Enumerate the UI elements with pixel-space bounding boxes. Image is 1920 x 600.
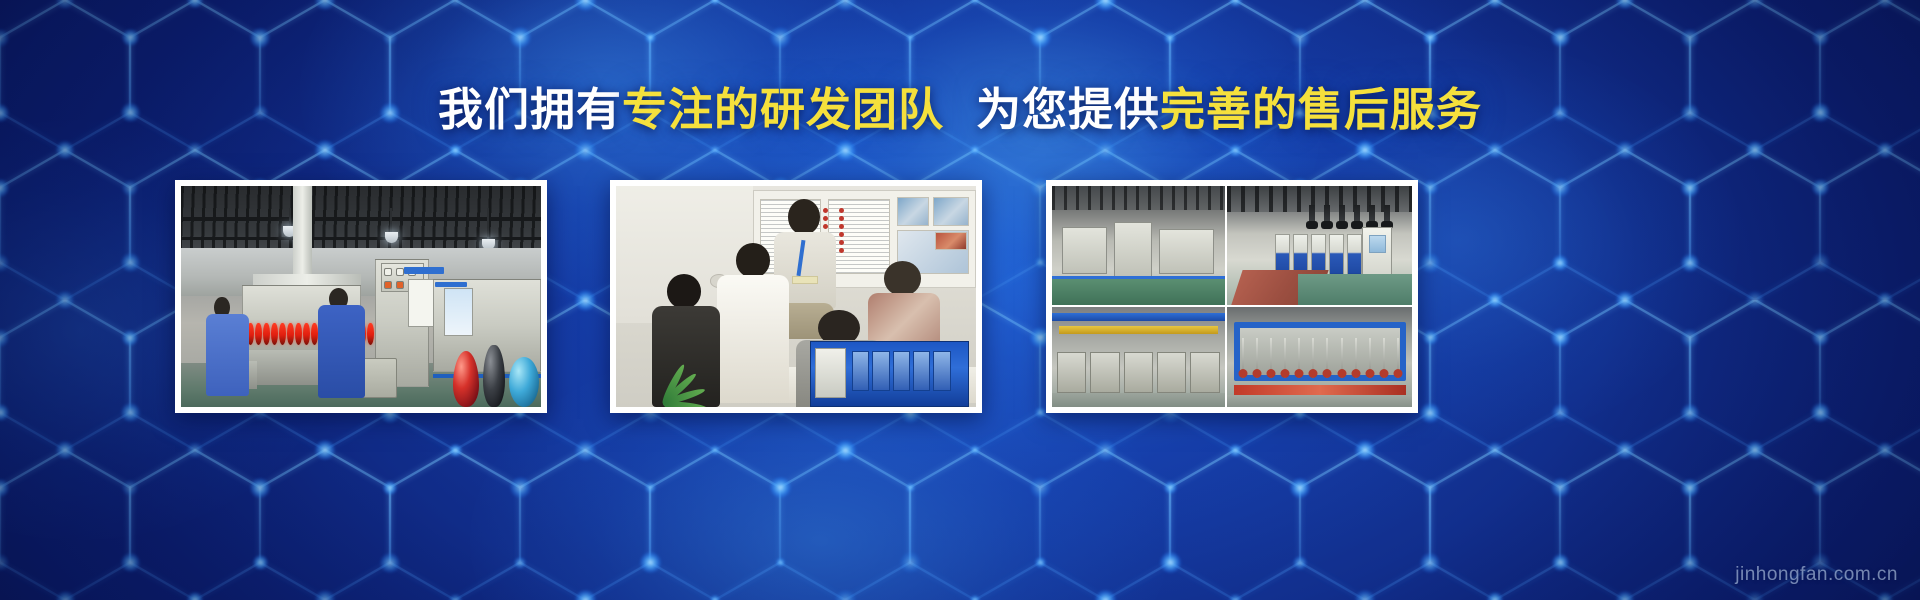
photo-equipment-collage [1052,186,1412,407]
site-watermark: jinhongfan.com.cn [1735,564,1898,586]
page-title: 我们拥有专注的研发团队为您提供完善的售后服务 [0,82,1920,141]
collage-cell-4 [1227,307,1412,407]
collage-cell-2 [1227,186,1412,305]
product-vases-overlay [453,345,539,407]
headline-part-3: 为您提供 [976,84,1160,135]
photo-card-collage[interactable] [1046,180,1418,413]
photo-gallery [0,180,1920,415]
collage-cell-3 [1052,307,1225,407]
headline-part-4: 完善的售后服务 [1160,84,1482,135]
headline-part-2: 专注的研发团队 [622,84,944,135]
photo-card-meeting[interactable] [610,180,982,413]
headline-part-1: 我们拥有 [438,84,622,135]
photo-technical-meeting [616,186,976,407]
photo-card-workshop[interactable] [175,180,547,413]
collage-cell-1 [1052,186,1225,305]
photo-workshop-spray-line [181,186,541,407]
hero-banner: 我们拥有专注的研发团队为您提供完善的售后服务 [0,0,1920,600]
equipment-inset [810,341,968,407]
